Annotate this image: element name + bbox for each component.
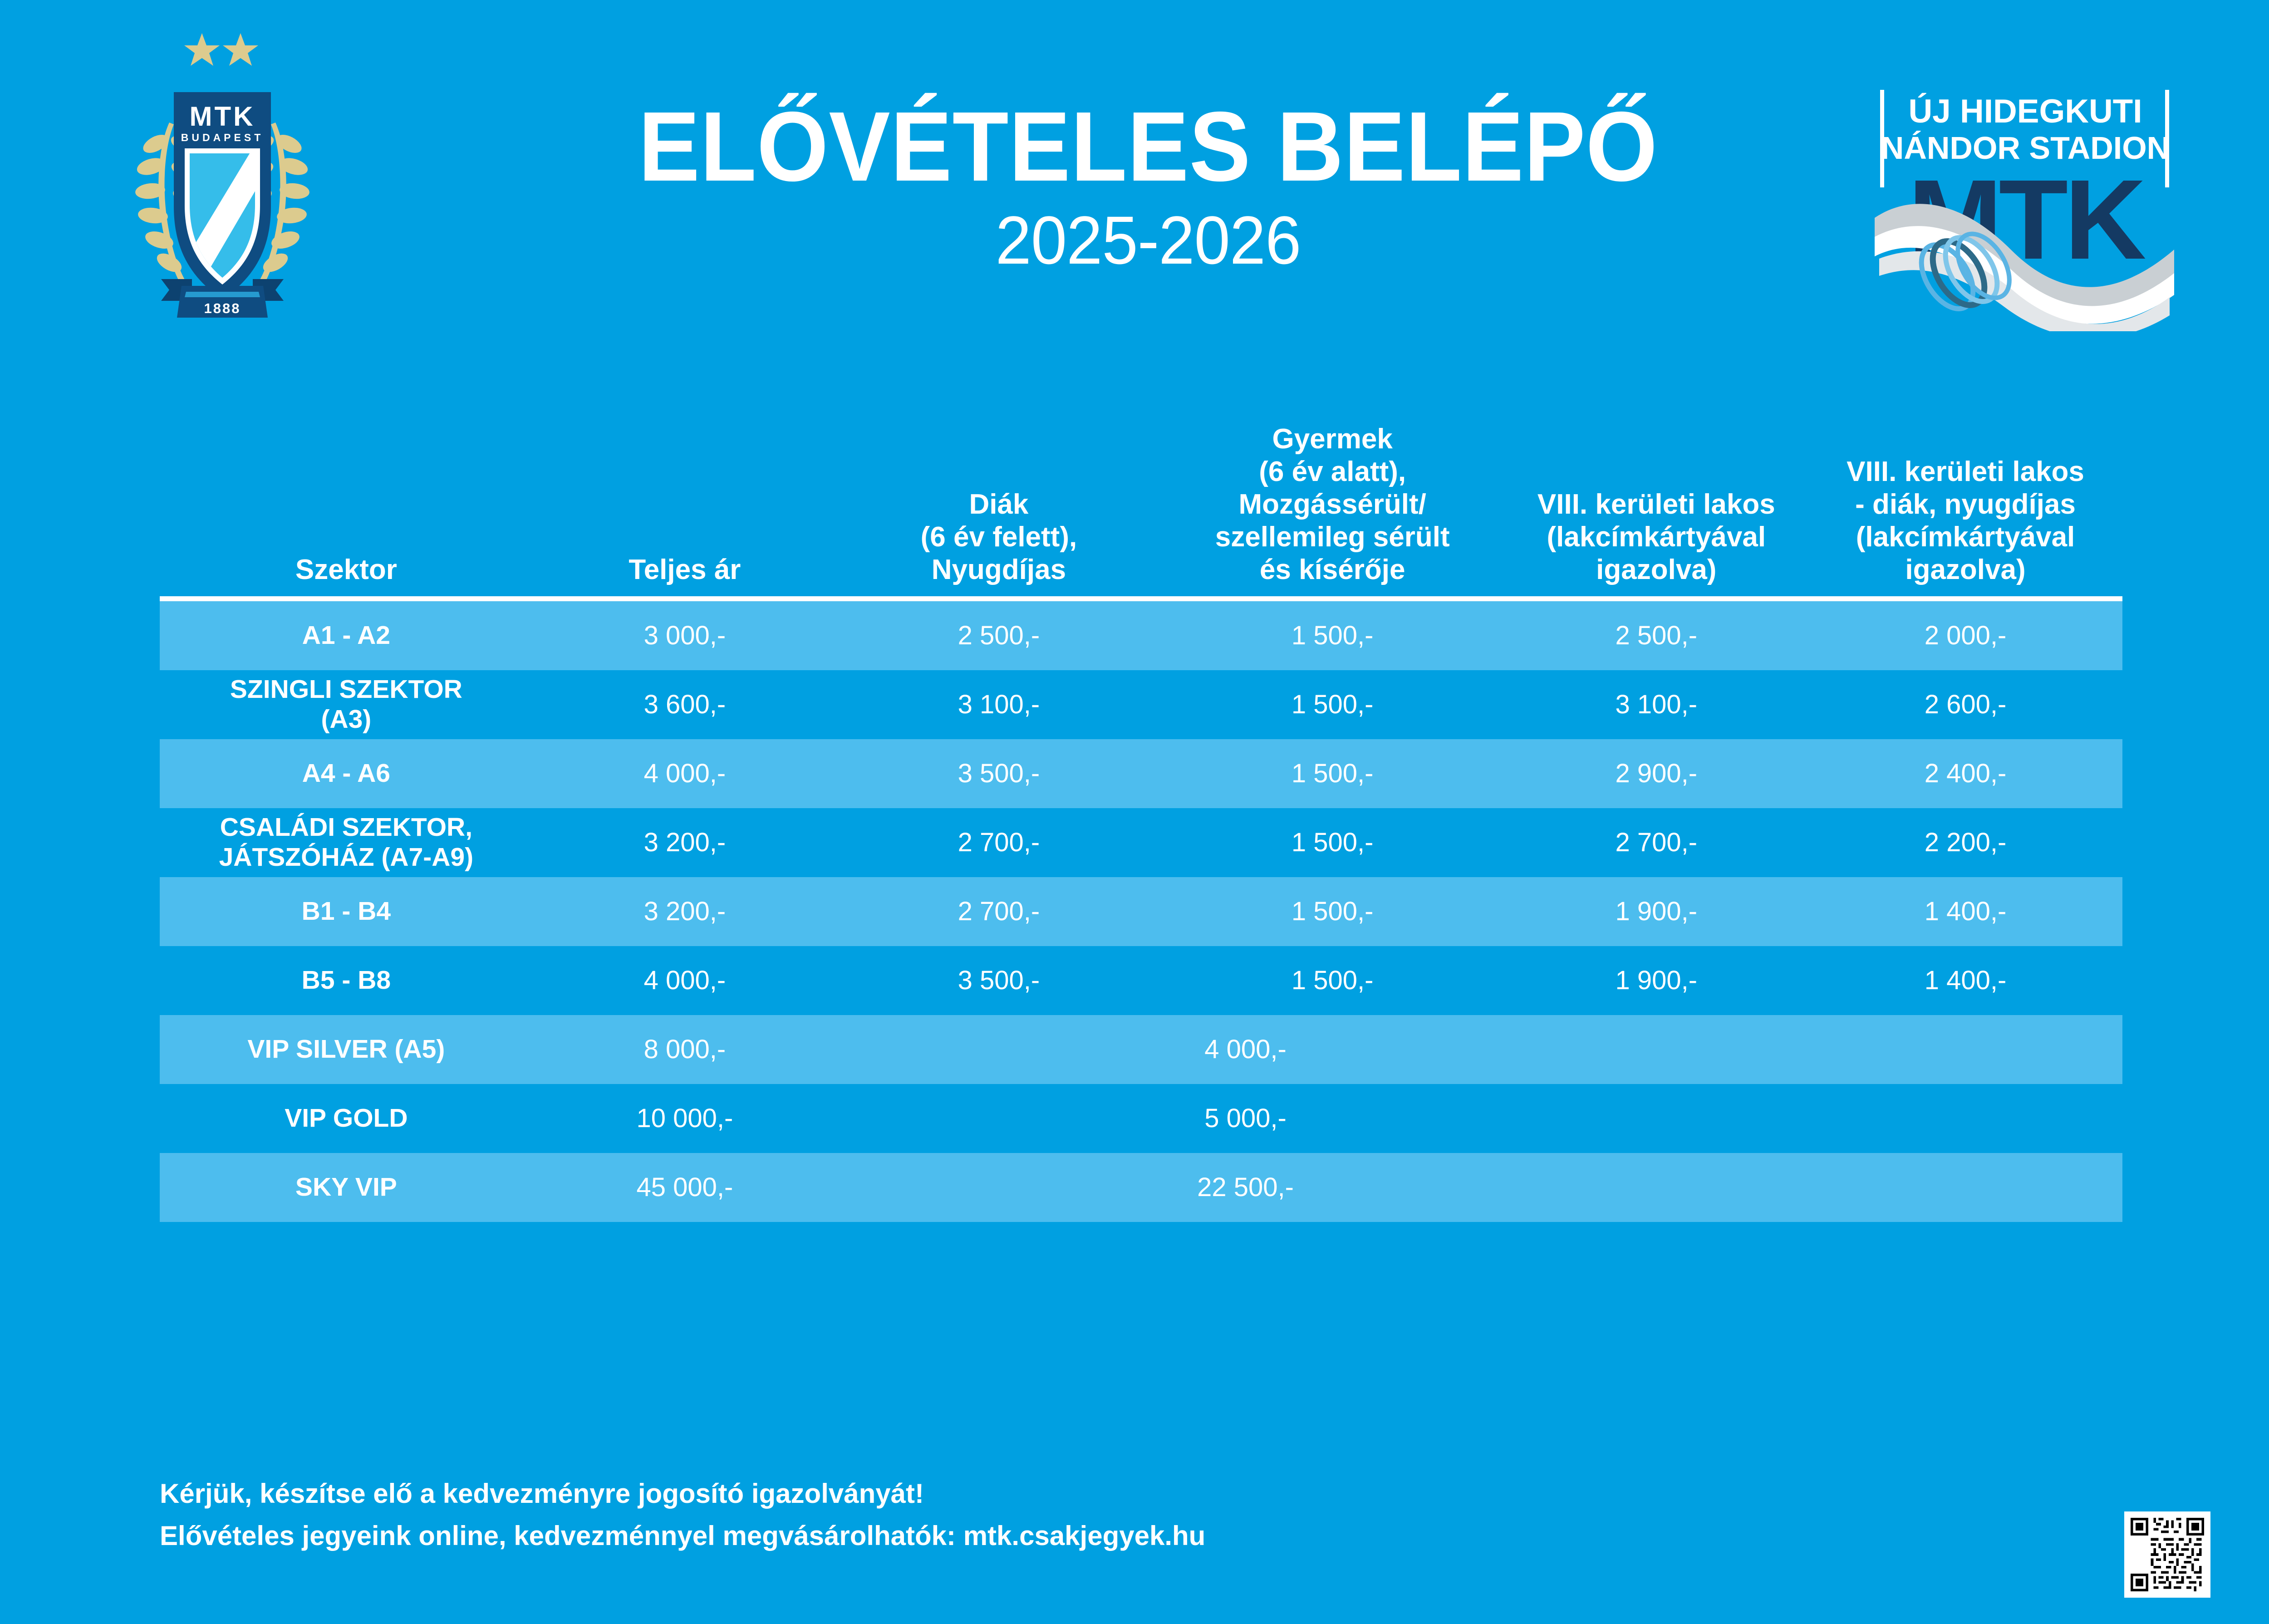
cell-student-price: 2 700,- xyxy=(837,828,1161,858)
poster-title-block: ELŐVÉTELES BELÉPŐ 2025-2026 xyxy=(526,98,1770,280)
crest-stars-icon xyxy=(184,33,258,66)
price-table: Szektor Teljes ár Diák(6 év felett),Nyug… xyxy=(160,358,2122,1222)
poster-title: ELŐVÉTELES BELÉPŐ xyxy=(570,98,1726,196)
cell-student-price: 2 700,- xyxy=(837,897,1161,927)
table-row: A1 - A23 000,-2 500,-1 500,-2 500,-2 000… xyxy=(160,601,2122,670)
column-header-student: Diák(6 év felett),Nyugdíjas xyxy=(837,488,1161,586)
table-row: B1 - B43 200,-2 700,-1 500,-1 900,-1 400… xyxy=(160,877,2122,946)
cell-district-student-price: 2 000,- xyxy=(1808,621,2122,651)
column-header-sector: Szektor xyxy=(160,554,533,586)
cell-district-price: 1 900,- xyxy=(1504,966,1808,996)
table-row: SKY VIP45 000,-22 500,- xyxy=(160,1153,2122,1222)
table-row: SZINGLI SZEKTOR(A3)3 600,-3 100,-1 500,-… xyxy=(160,670,2122,739)
table-row: VIP GOLD10 000,-5 000,- xyxy=(160,1084,2122,1153)
poster-season: 2025-2026 xyxy=(558,201,1739,280)
table-row: A4 - A64 000,-3 500,-1 500,-2 900,-2 400… xyxy=(160,739,2122,808)
cell-child-price: 5 000,- xyxy=(837,1104,1808,1134)
stadium-line1-text: ÚJ HIDEGKUTI xyxy=(1908,93,2142,130)
cell-district-student-price: 2 200,- xyxy=(1808,828,2122,858)
cell-full-price: 3 600,- xyxy=(533,690,837,720)
crest-mtk-text: MTK xyxy=(190,101,255,132)
cell-child-price: 1 500,- xyxy=(1161,828,1504,858)
cell-child-price: 1 500,- xyxy=(1161,621,1504,651)
cell-district-price: 2 900,- xyxy=(1504,759,1808,789)
cell-sector: B1 - B4 xyxy=(160,897,533,927)
header-divider xyxy=(160,596,2122,601)
crest-founded-text: 1888 xyxy=(204,300,241,316)
stadium-logo: ÚJ HIDEGKUTI NÁNDOR STADION MTK xyxy=(1875,68,2174,331)
cell-sector: VIP SILVER (A5) xyxy=(160,1035,533,1065)
column-header-full-price: Teljes ár xyxy=(533,554,837,586)
cell-sector: CSALÁDI SZEKTOR,JÁTSZÓHÁZ (A7-A9) xyxy=(160,813,533,872)
cell-district-student-price: 2 600,- xyxy=(1808,690,2122,720)
cell-child-price: 1 500,- xyxy=(1161,897,1504,927)
column-header-district: VIII. kerületi lakos(lakcímkártyávaligaz… xyxy=(1504,488,1808,586)
cell-child-price: 1 500,- xyxy=(1161,966,1504,996)
cell-sector: B5 - B8 xyxy=(160,966,533,996)
column-header-district-student: VIII. kerületi lakos- diák, nyugdíjas(la… xyxy=(1808,456,2122,586)
cell-full-price: 3 000,- xyxy=(533,621,837,651)
column-header-child: Gyermek(6 év alatt),Mozgássérült/szellem… xyxy=(1161,423,1504,586)
cell-district-student-price: 1 400,- xyxy=(1808,966,2122,996)
cell-district-price: 1 900,- xyxy=(1504,897,1808,927)
footer-note-2: Elővételes jegyeink online, kedvezménnye… xyxy=(160,1515,1703,1557)
cell-child-price: 4 000,- xyxy=(837,1035,1808,1065)
cell-student-price: 3 500,- xyxy=(837,759,1161,789)
cell-full-price: 4 000,- xyxy=(533,759,837,789)
cell-full-price: 3 200,- xyxy=(533,897,837,927)
mtk-crest-logo: MTK BUDAPEST 1888 xyxy=(116,25,329,334)
cell-sector: A4 - A6 xyxy=(160,759,533,789)
poster-header: MTK BUDAPEST 1888 ELŐVÉTELES BELÉPŐ 2025… xyxy=(0,0,2269,345)
cell-child-price: 22 500,- xyxy=(837,1173,1808,1203)
table-header-row: Szektor Teljes ár Diák(6 év felett),Nyug… xyxy=(160,358,2122,590)
cell-student-price: 2 500,- xyxy=(837,621,1161,651)
cell-child-price: 1 500,- xyxy=(1161,690,1504,720)
crest-budapest-text: BUDAPEST xyxy=(181,132,264,143)
cell-student-price: 3 500,- xyxy=(837,966,1161,996)
cell-child-price: 1 500,- xyxy=(1161,759,1504,789)
table-row: B5 - B84 000,-3 500,-1 500,-1 900,-1 400… xyxy=(160,946,2122,1015)
cell-full-price: 4 000,- xyxy=(533,966,837,996)
cell-district-price: 2 700,- xyxy=(1504,828,1808,858)
table-row: VIP SILVER (A5)8 000,-4 000,- xyxy=(160,1015,2122,1084)
cell-full-price: 3 200,- xyxy=(533,828,837,858)
footer-note-1: Kérjük, készítse elő a kedvezményre jogo… xyxy=(160,1472,1703,1515)
table-body: A1 - A23 000,-2 500,-1 500,-2 500,-2 000… xyxy=(160,601,2122,1222)
cell-sector: SKY VIP xyxy=(160,1173,533,1202)
cell-district-price: 2 500,- xyxy=(1504,621,1808,651)
cell-sector: A1 - A2 xyxy=(160,621,533,651)
cell-sector: VIP GOLD xyxy=(160,1104,533,1133)
cell-district-student-price: 1 400,- xyxy=(1808,897,2122,927)
cell-sector: SZINGLI SZEKTOR(A3) xyxy=(160,675,533,734)
qr-code[interactable] xyxy=(2124,1511,2210,1598)
cell-district-price: 3 100,- xyxy=(1504,690,1808,720)
poster-footer: Kérjük, készítse elő a kedvezményre jogo… xyxy=(160,1472,1703,1557)
table-row: CSALÁDI SZEKTOR,JÁTSZÓHÁZ (A7-A9)3 200,-… xyxy=(160,808,2122,877)
cell-student-price: 3 100,- xyxy=(837,690,1161,720)
cell-district-student-price: 2 400,- xyxy=(1808,759,2122,789)
